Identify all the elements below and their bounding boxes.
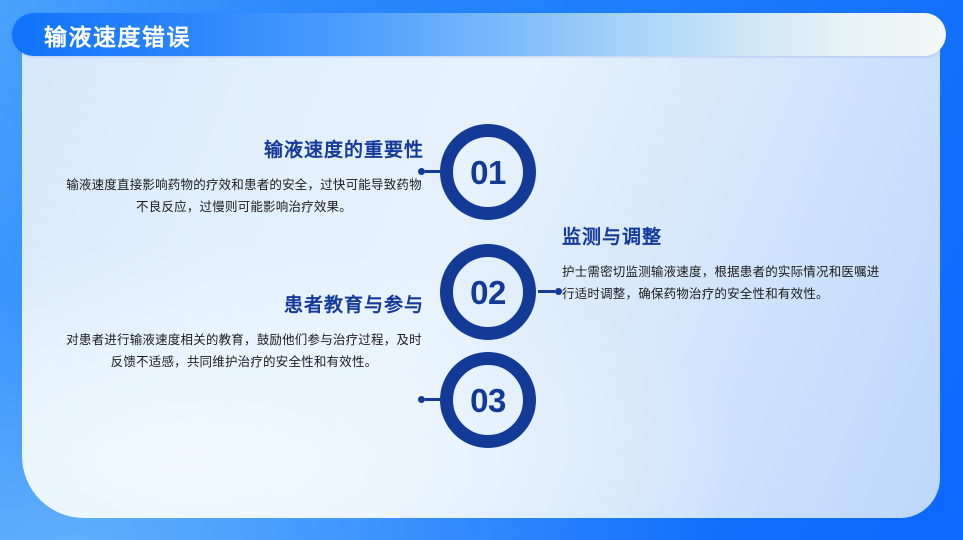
info-block-1-heading: 输液速度的重要性: [60, 135, 428, 162]
info-block-3-heading: 患者教育与参与: [60, 290, 428, 317]
timeline-node-2[interactable]: 02: [440, 244, 536, 340]
slide-title-bar: 输液速度错误: [12, 13, 946, 56]
info-block-2: 监测与调整 护士需密切监测输液速度，根据患者的实际情况和医嘱进行适时调整，确保药…: [562, 222, 888, 305]
connector-dot-icon-3: [418, 396, 425, 403]
connector-stem-2: [538, 290, 555, 293]
timeline-node-3-number: 03: [470, 384, 506, 417]
connector-dot-icon-2: [555, 288, 562, 295]
info-block-1: 输液速度的重要性 输液速度直接影响药物的疗效和患者的安全，过快可能导致药物不良反…: [60, 135, 428, 218]
slide-root: 输液速度错误 输液速度的重要性 输液速度直接影响药物的疗效和患者的安全，过快可能…: [0, 0, 963, 540]
info-block-3: 患者教育与参与 对患者进行输液速度相关的教育，鼓励他们参与治疗过程，及时反馈不适…: [60, 290, 428, 373]
info-block-2-heading: 监测与调整: [562, 222, 888, 249]
timeline-node-2-number: 02: [470, 276, 506, 309]
timeline-node-1-number: 01: [470, 156, 506, 189]
info-block-1-body: 输液速度直接影响药物的疗效和患者的安全，过快可能导致药物不良反应，过慢则可能影响…: [60, 175, 428, 218]
connector-line-2: [538, 288, 562, 295]
timeline-node-3[interactable]: 03: [440, 352, 536, 448]
info-block-2-body: 护士需密切监测输液速度，根据患者的实际情况和医嘱进行适时调整，确保药物治疗的安全…: [562, 262, 888, 305]
page-title: 输液速度错误: [44, 18, 191, 52]
timeline-node-1[interactable]: 01: [440, 124, 536, 220]
connector-line-3: [418, 396, 442, 403]
info-block-3-body: 对患者进行输液速度相关的教育，鼓励他们参与治疗过程，及时反馈不适感，共同维护治疗…: [60, 330, 428, 373]
